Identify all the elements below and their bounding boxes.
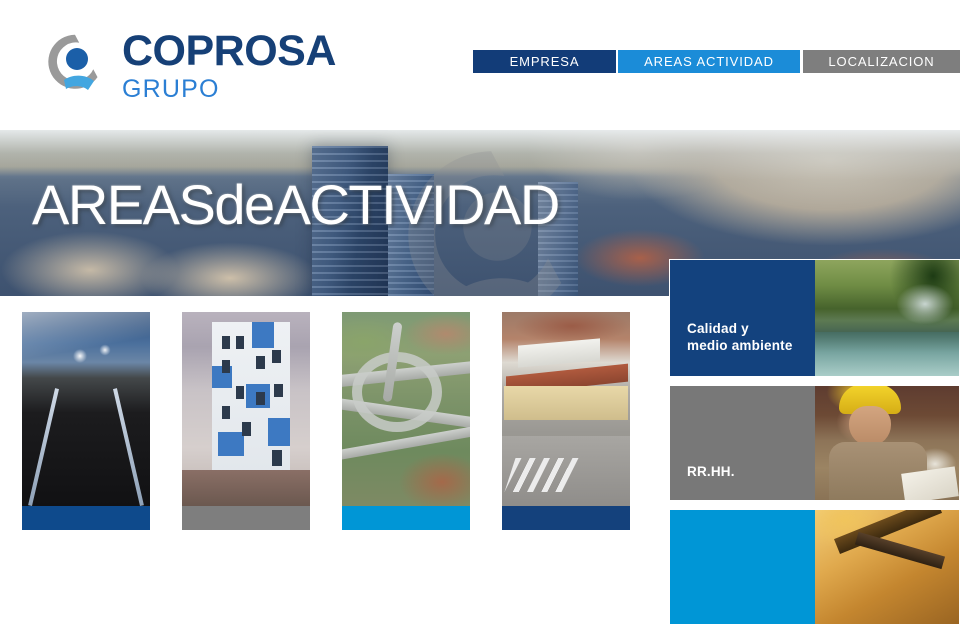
- panel-rrhh[interactable]: RR.HH.: [669, 385, 960, 501]
- pedestrian-crossing: [504, 458, 579, 492]
- panel-color-block: [670, 510, 815, 624]
- main-content: Calidad y medio ambiente RR.HH.: [0, 296, 960, 530]
- nav-item-localizacion[interactable]: LOCALIZACION: [803, 50, 960, 73]
- thumbnail-card-building[interactable]: [182, 312, 310, 530]
- brand-subtitle: GRUPO: [122, 75, 362, 103]
- warehouse-roof: [518, 338, 600, 367]
- highway-interchange-image: [342, 312, 470, 506]
- brand-wordmark: COPROSA GRUPO: [122, 28, 362, 103]
- rail-line-left: [28, 388, 59, 506]
- panel-label: RR.HH.: [687, 463, 735, 480]
- hero-title: AREASdeACTIVIDAD: [32, 176, 559, 234]
- brand-logo[interactable]: COPROSA GRUPO: [36, 22, 336, 104]
- thumbnail-color-bar: [502, 506, 630, 530]
- building-ground: [182, 470, 310, 506]
- railway-tracks-image: [22, 312, 150, 506]
- thumbnail-color-bar: [182, 506, 310, 530]
- river-water: [815, 332, 960, 376]
- historic-building-plaza-image: [502, 312, 630, 506]
- panel-calidad-medio-ambiente[interactable]: Calidad y medio ambiente: [669, 259, 960, 377]
- blueprint-paper: [901, 466, 959, 501]
- thumbnail-card-railway[interactable]: [22, 312, 150, 530]
- panel-label-line2: medio ambiente: [687, 337, 793, 354]
- site-header: COPROSA GRUPO EMPRESA AREAS ACTIVIDAD LO…: [0, 0, 960, 130]
- panel-image: [815, 260, 960, 376]
- panel-image: [815, 386, 960, 500]
- nav-item-areas-actividad[interactable]: AREAS ACTIVIDAD: [618, 50, 800, 73]
- thumbnail-color-bar: [22, 506, 150, 530]
- nav-item-empresa[interactable]: EMPRESA: [473, 50, 616, 73]
- panel-third[interactable]: [669, 509, 960, 625]
- historic-facade: [504, 386, 628, 420]
- panel-label-line1: Calidad y: [687, 320, 793, 337]
- mist-highlight: [897, 284, 953, 324]
- rail-line-right: [113, 388, 144, 506]
- worker-face: [849, 406, 891, 446]
- panel-label-line1: RR.HH.: [687, 463, 735, 480]
- coprosa-c-mark-icon: [36, 26, 110, 100]
- thumbnail-card-highway[interactable]: [342, 312, 470, 530]
- panel-image: [815, 510, 960, 624]
- panel-label: Calidad y medio ambiente: [687, 320, 793, 354]
- machinery-arm-2: [854, 532, 944, 569]
- main-navigation: EMPRESA AREAS ACTIVIDAD LOCALIZACION: [473, 50, 960, 73]
- thumbnail-card-plaza[interactable]: [502, 312, 630, 530]
- brand-name: COPROSA: [122, 28, 362, 74]
- building-facade: [212, 322, 290, 472]
- thumbnail-color-bar: [342, 506, 470, 530]
- panel-color-block: Calidad y medio ambiente: [670, 260, 815, 376]
- residential-building-image: [182, 312, 310, 506]
- panel-color-block: RR.HH.: [670, 386, 815, 500]
